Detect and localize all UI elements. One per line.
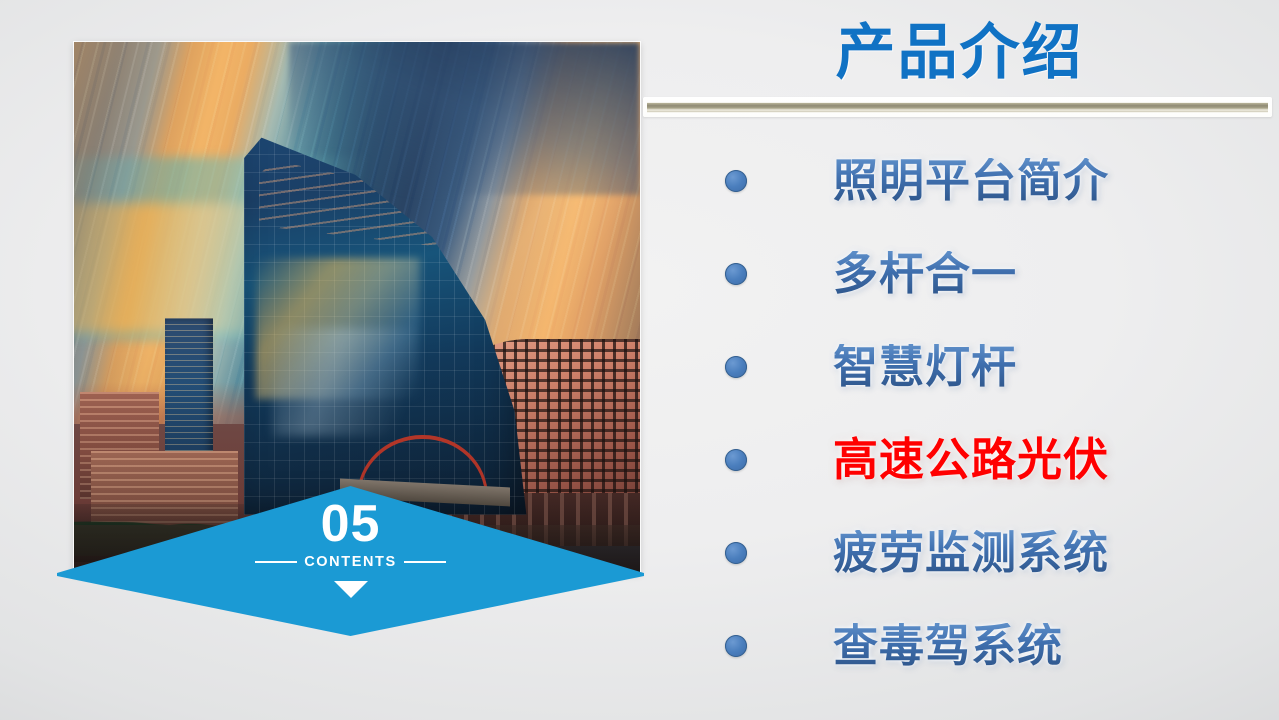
section-number: 05: [321, 500, 381, 549]
right-panel: 产品介绍 照明平台简介 多杆合一 智慧灯杆 高速公路光伏: [640, 0, 1279, 720]
rule-right: [404, 561, 446, 563]
caret-down-icon: [334, 581, 368, 598]
list-item[interactable]: 多杆合一: [640, 227, 1279, 320]
list-item-label: 照明平台简介: [833, 158, 1109, 203]
bullet-icon: [725, 449, 747, 471]
list-item-label: 高速公路光伏: [833, 437, 1109, 482]
contents-label-row: CONTENTS: [255, 554, 446, 570]
contents-label: CONTENTS: [304, 554, 397, 570]
bullet-icon: [725, 635, 747, 657]
list-item[interactable]: 智慧灯杆: [640, 320, 1279, 413]
bullet-icon: [725, 356, 747, 378]
contents-badge: 05 CONTENTS: [57, 486, 644, 636]
rule-left: [255, 561, 297, 563]
bullet-icon: [725, 263, 747, 285]
list-item-highlighted[interactable]: 高速公路光伏: [640, 413, 1279, 506]
page-title: 产品介绍: [640, 4, 1279, 91]
list-item-label: 查毒驾系统: [833, 623, 1063, 668]
presentation-slide: 05 CONTENTS 产品介绍 照明平台简介 多杆合一 智慧灯杆: [0, 0, 1279, 720]
bullet-icon: [725, 542, 747, 564]
divider-bar: [647, 102, 1268, 113]
list-item-label: 多杆合一: [833, 251, 1017, 296]
list-item-label: 疲劳监测系统: [833, 530, 1109, 575]
list-item-label: 智慧灯杆: [833, 344, 1017, 389]
title-divider: [643, 97, 1272, 117]
list-item[interactable]: 疲劳监测系统: [640, 506, 1279, 599]
list-item[interactable]: 查毒驾系统: [640, 599, 1279, 692]
agenda-list: 照明平台简介 多杆合一 智慧灯杆 高速公路光伏 疲劳监测系统 查毒驾系统: [640, 134, 1279, 692]
list-item[interactable]: 照明平台简介: [640, 134, 1279, 227]
bullet-icon: [725, 170, 747, 192]
